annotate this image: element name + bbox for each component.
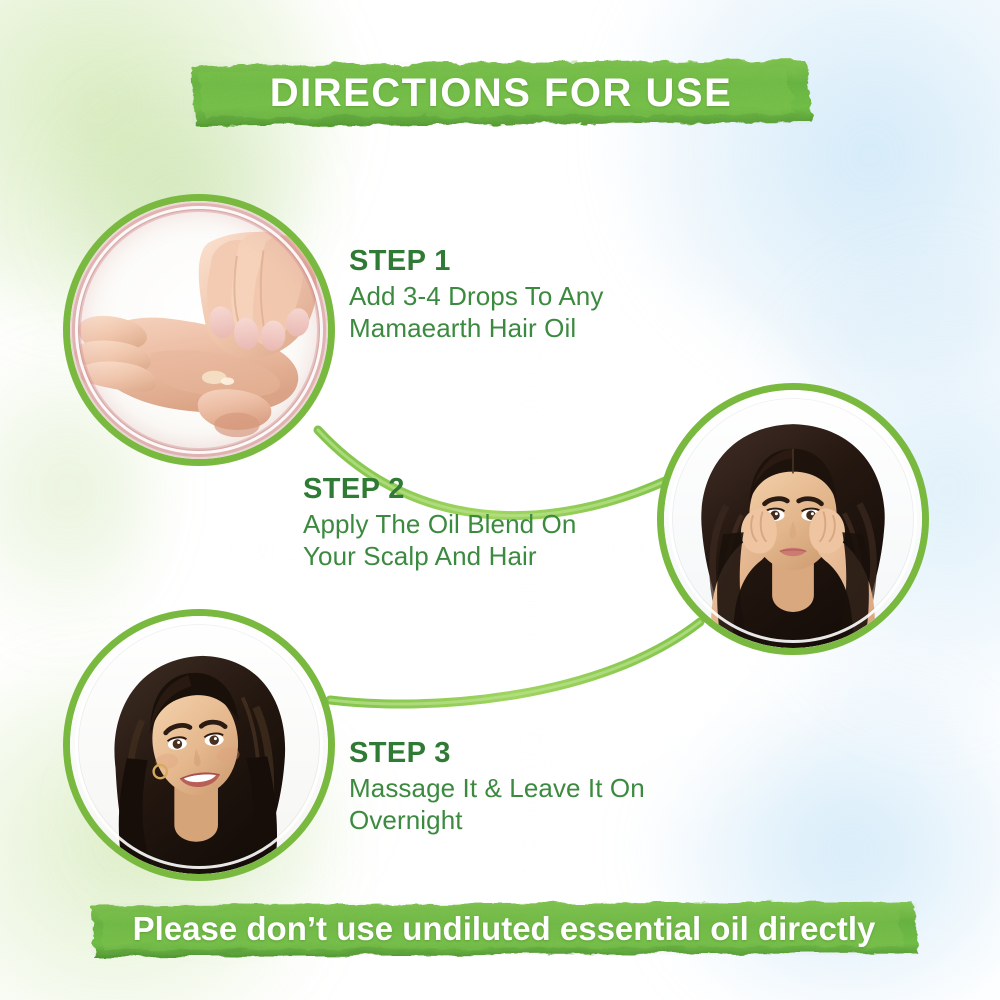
step-1-description: Add 3-4 Drops To Any Mamaearth Hair Oil	[349, 281, 603, 344]
header-banner: DIRECTIONS FOR USE	[186, 56, 816, 130]
step-2-image-circle	[657, 383, 929, 655]
step-1-line-1: Add 3-4 Drops To Any	[349, 281, 603, 313]
hands-with-oil-drops-photo	[70, 201, 328, 459]
step-2-label: STEP 2	[303, 474, 576, 504]
step-2-text-block: STEP 2 Apply The Oil Blend On Your Scalp…	[303, 474, 576, 573]
step-2-line-2: Your Scalp And Hair	[303, 541, 576, 573]
step-2-line-1: Apply The Oil Blend On	[303, 509, 576, 541]
step-2-description: Apply The Oil Blend On Your Scalp And Ha…	[303, 509, 576, 572]
step-3-text-block: STEP 3 Massage It & Leave It On Overnigh…	[349, 738, 645, 837]
woman-smiling-with-healthy-hair-photo	[70, 616, 328, 874]
footer-note: Please don’t use undiluted essential oil…	[133, 910, 876, 948]
page-title: DIRECTIONS FOR USE	[270, 71, 733, 116]
step-1-label: STEP 1	[349, 246, 603, 276]
step-3-description: Massage It & Leave It On Overnight	[349, 773, 645, 836]
step-3-line-1: Massage It & Leave It On	[349, 773, 645, 805]
connector-step2-to-step3	[330, 622, 700, 704]
step-1-text-block: STEP 1 Add 3-4 Drops To Any Mamaearth Ha…	[349, 246, 603, 345]
directions-for-use-infographic: DIRECTIONS FOR USE	[0, 0, 1000, 1000]
woman-applying-oil-to-scalp-photo	[664, 390, 922, 648]
step-3-label: STEP 3	[349, 738, 645, 768]
footer-banner: Please don’t use undiluted essential oil…	[86, 898, 922, 960]
step-3-line-2: Overnight	[349, 805, 645, 837]
step-3-image-circle	[63, 609, 335, 881]
step-1-image-circle	[63, 194, 335, 466]
step-1-line-2: Mamaearth Hair Oil	[349, 313, 603, 345]
